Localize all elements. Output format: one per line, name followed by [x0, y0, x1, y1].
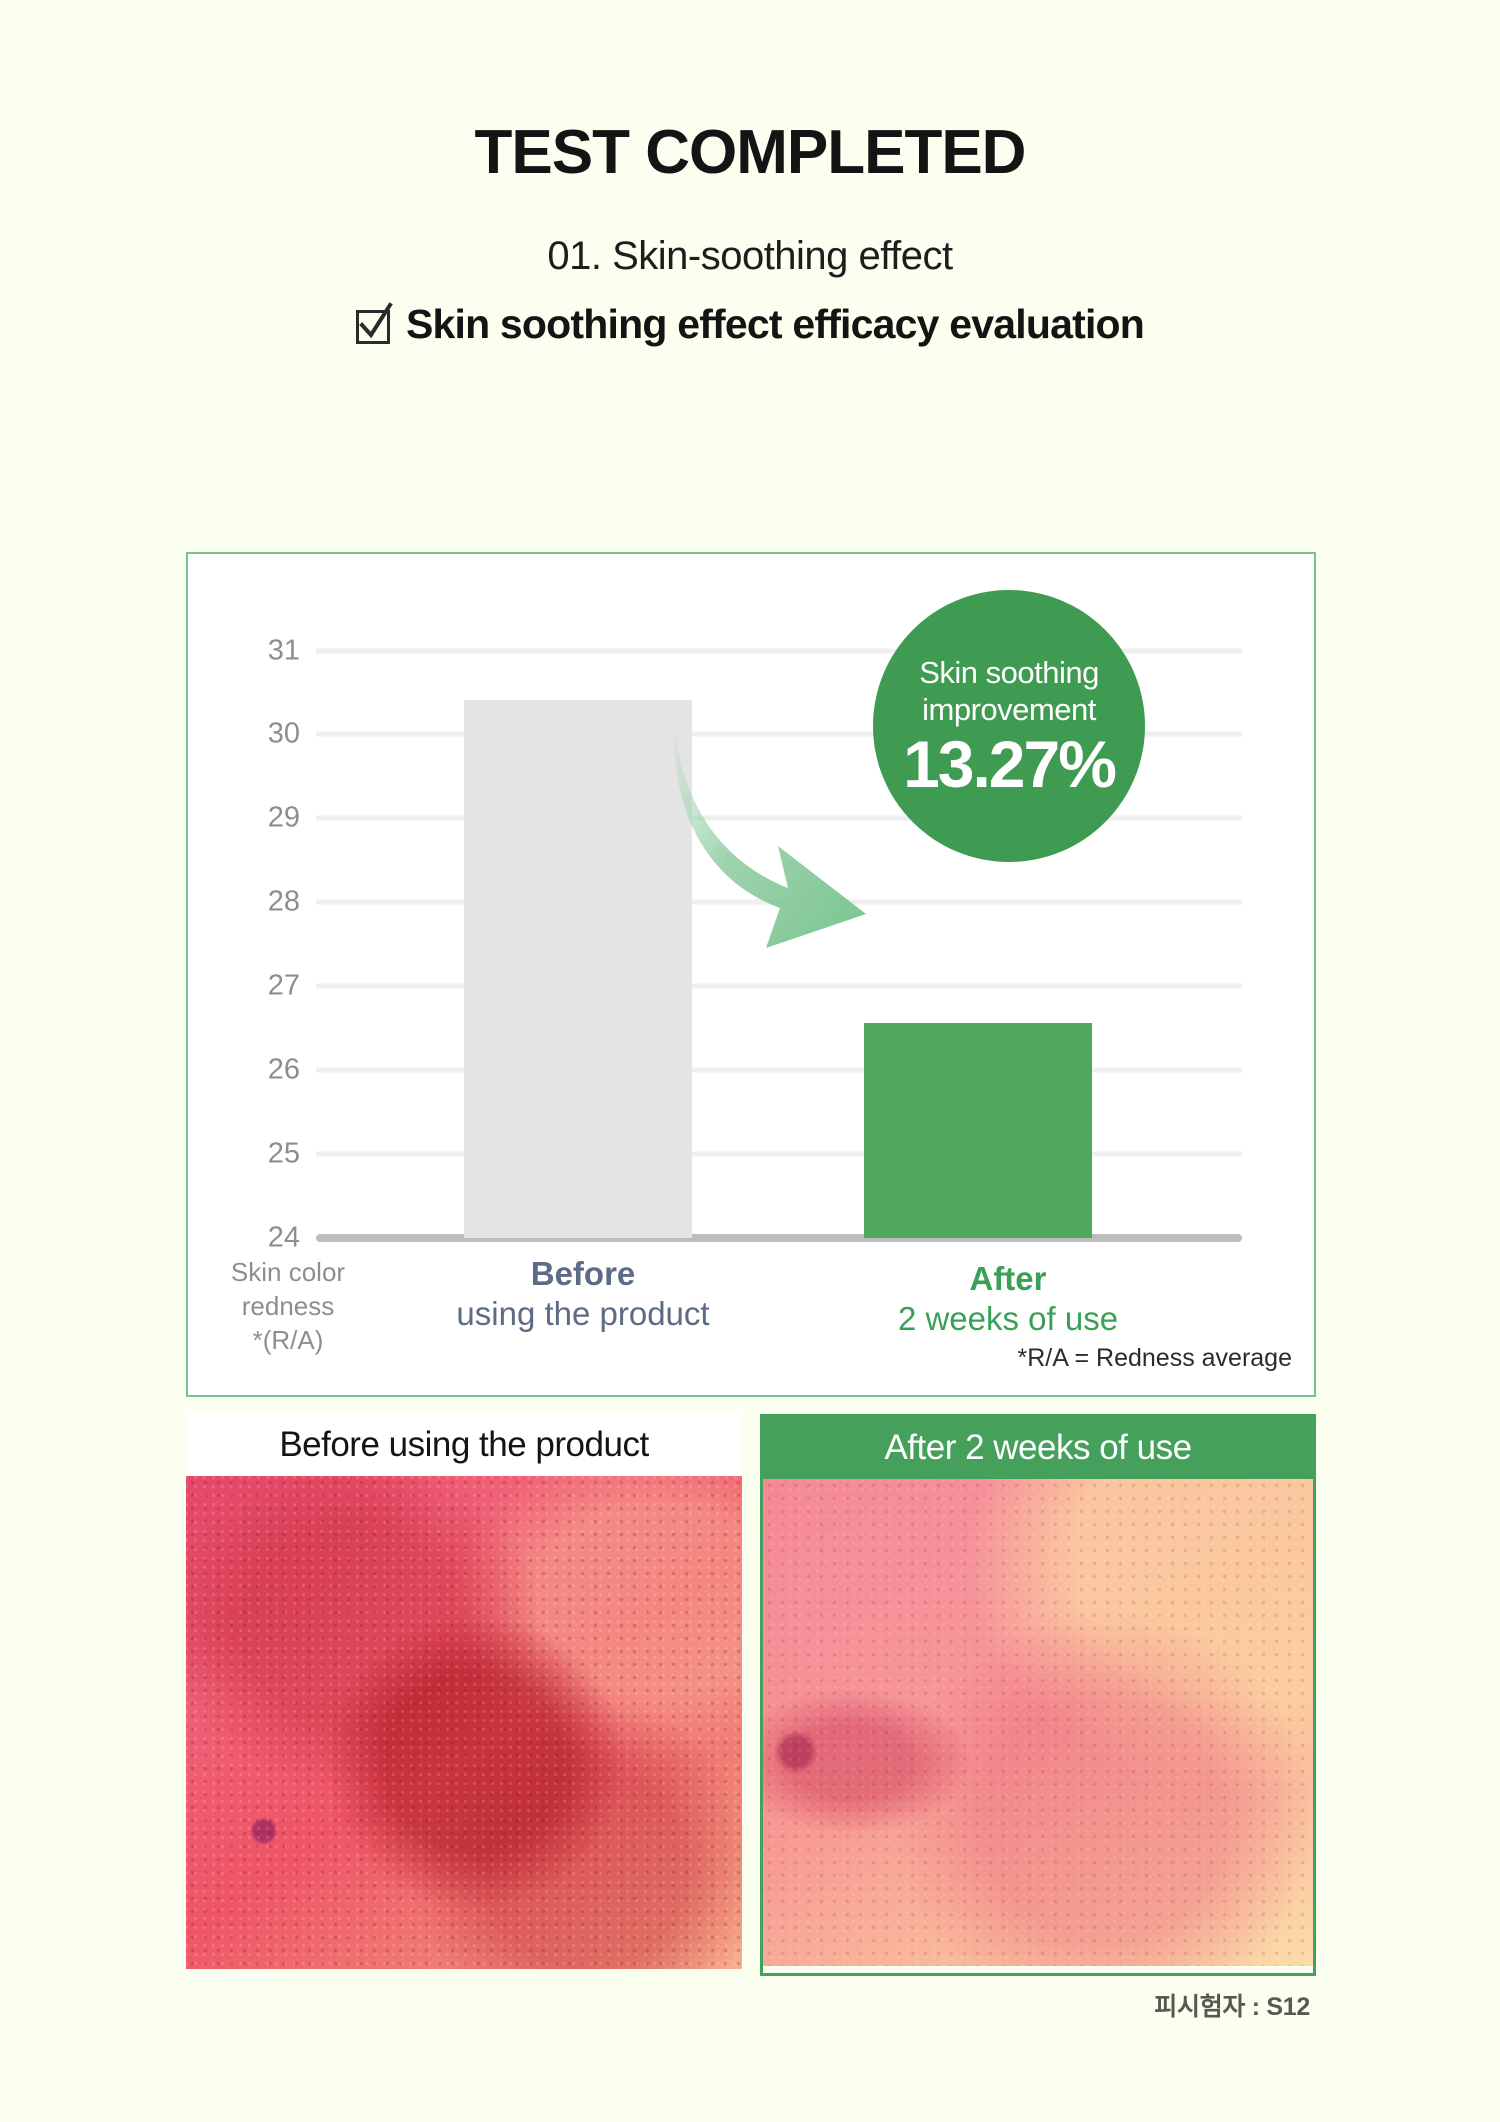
- skin-texture-overlay-after: [763, 1479, 1313, 1966]
- skin-photo-after: [763, 1479, 1313, 1966]
- check-heading-label: Skin soothing effect efficacy evaluation: [406, 301, 1144, 348]
- y-tick-28: 28: [220, 886, 300, 919]
- section-subtitle: 01. Skin-soothing effect: [0, 234, 1500, 279]
- y-tick-31: 31: [220, 635, 300, 668]
- improvement-badge-label: Skin soothing improvement: [901, 655, 1117, 728]
- improvement-badge-label-line1: Skin soothing: [919, 655, 1099, 692]
- photo-label-before: Before using the product: [186, 1414, 742, 1476]
- y-axis-title-line2: redness: [208, 1290, 368, 1324]
- photo-card-before: Before using the product: [186, 1414, 742, 1976]
- x-label-before-rest: using the product: [423, 1294, 743, 1334]
- y-tick-26: 26: [220, 1054, 300, 1087]
- bar-before: [464, 700, 692, 1238]
- y-axis-title-line1: Skin color: [208, 1256, 368, 1290]
- y-tick-30: 30: [220, 718, 300, 751]
- chart-footnote: *R/A = Redness average: [1018, 1344, 1292, 1373]
- x-label-after: After 2 weeks of use: [848, 1259, 1168, 1340]
- page-title: TEST COMPLETED: [0, 122, 1500, 184]
- chart-plot-area: 31 30 29 28 27 26 25 24 Before: [188, 554, 1314, 1395]
- x-label-before-bold: Before: [423, 1254, 743, 1294]
- x-label-before: Before using the product: [423, 1254, 743, 1335]
- bar-after: [864, 1023, 1092, 1238]
- chart-card: 31 30 29 28 27 26 25 24 Before: [186, 552, 1316, 1397]
- y-axis-title-line3: *(R/A): [208, 1324, 368, 1358]
- y-tick-27: 27: [220, 970, 300, 1003]
- photo-card-after: After 2 weeks of use: [760, 1414, 1316, 1976]
- y-tick-29: 29: [220, 802, 300, 835]
- subject-note: 피시험자 : S12: [1154, 1987, 1310, 2023]
- y-axis-title: Skin color redness *(R/A): [208, 1256, 368, 1357]
- photo-comparison: Before using the product After 2 weeks o…: [186, 1414, 1316, 1976]
- skin-photo-before: [186, 1476, 742, 1969]
- y-tick-24: 24: [220, 1222, 300, 1255]
- improvement-badge-value: 13.27%: [903, 731, 1115, 797]
- improvement-badge: Skin soothing improvement 13.27%: [873, 590, 1145, 862]
- check-heading: Skin soothing effect efficacy evaluation: [0, 301, 1500, 348]
- y-tick-25: 25: [220, 1138, 300, 1171]
- x-label-after-bold: After: [848, 1259, 1168, 1299]
- x-label-after-rest: 2 weeks of use: [848, 1299, 1168, 1339]
- photo-label-after: After 2 weeks of use: [763, 1417, 1313, 1479]
- improvement-badge-label-line2: improvement: [919, 692, 1099, 729]
- skin-texture-overlay: [186, 1476, 742, 1969]
- checkbox-checked-icon: [356, 310, 390, 344]
